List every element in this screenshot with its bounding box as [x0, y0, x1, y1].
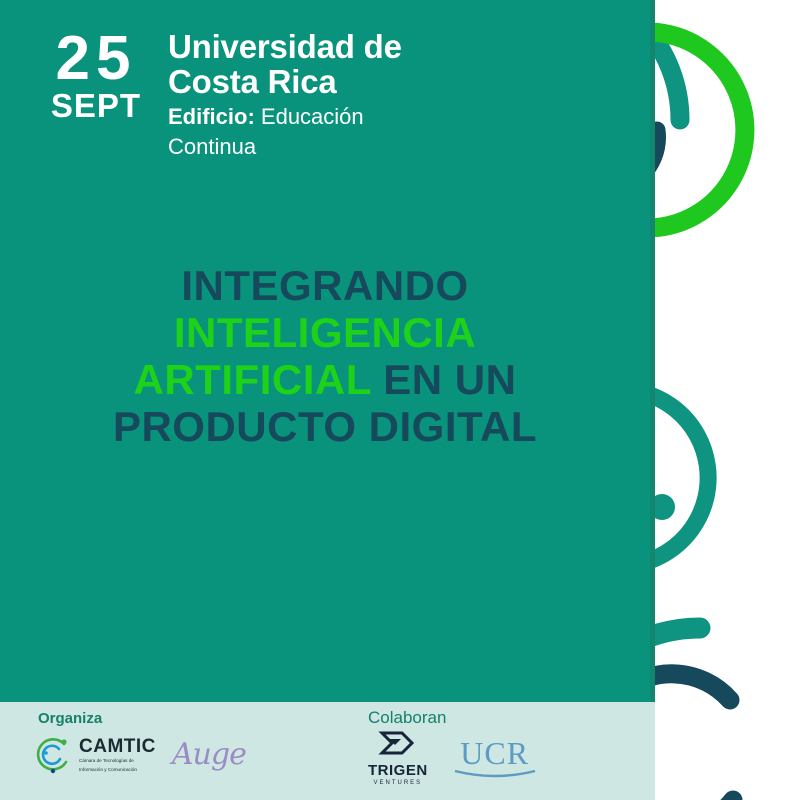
organizer-logos: CAMTIC Cámara de Tecnologías de Informac… [34, 735, 246, 775]
deco-cluster-middle [655, 335, 708, 566]
venue-line: Edificio: Educación [168, 105, 402, 130]
event-header: 25 SEPT Universidad de Costa Rica Edific… [34, 30, 634, 159]
poster-canvas: 25 SEPT Universidad de Costa Rica Edific… [0, 0, 800, 800]
event-date: 25 SEPT [34, 30, 158, 122]
collaborator-logos: TRIGEN VENTURES UCR [368, 730, 536, 786]
ucr-logo[interactable]: UCR [454, 738, 536, 786]
deco-cluster-top [655, 0, 745, 228]
date-day: 25 [34, 30, 158, 87]
camtic-logo[interactable]: CAMTIC Cámara de Tecnologías de Informac… [34, 735, 156, 775]
ucr-name: UCR [454, 738, 536, 768]
camtic-subtitle-line1: Cámara de Tecnologías de [79, 758, 156, 764]
colaboran-label: Colaboran [368, 708, 446, 728]
deco-cluster-bottom [655, 628, 733, 800]
organiza-label: Organiza [38, 710, 102, 727]
title-line-3-dark: EN UN [383, 356, 516, 403]
camtic-name: CAMTIC [79, 737, 156, 756]
camtic-text-block: CAMTIC Cámara de Tecnologías de Informac… [79, 737, 156, 772]
venue-block: Universidad de Costa Rica Edificio: Educ… [158, 30, 402, 159]
trigen-logo[interactable]: TRIGEN VENTURES [368, 730, 428, 786]
date-month: SEPT [34, 89, 158, 122]
camtic-subtitle-line2: Información y Comunicación [79, 767, 156, 773]
auge-logo[interactable]: Auge [172, 740, 246, 770]
title-line-4: PRODUCTO DIGITAL [45, 403, 605, 450]
university-name-line2: Costa Rica [168, 65, 402, 100]
venue-line2: Continua [168, 135, 402, 160]
title-line-2: INTELIGENCIA [45, 309, 605, 356]
event-title: INTEGRANDO INTELIGENCIA ARTIFICIAL EN UN… [45, 262, 605, 450]
sponsors-footer: Organiza Colaboran CAMTIC Cámara de Tecn… [0, 702, 655, 800]
trigen-chevron-icon [376, 730, 420, 756]
panel-edge-stripe [650, 0, 655, 702]
title-line-3-green: ARTIFICIAL [134, 356, 372, 403]
trigen-subtitle: VENTURES [368, 780, 428, 786]
colaboran-group: Colaboran [368, 708, 446, 728]
trigen-name: TRIGEN [368, 763, 428, 778]
ucr-swoosh-icon [454, 769, 536, 781]
organiza-group: Organiza [38, 710, 102, 727]
decorative-circles-column [655, 0, 800, 800]
camtic-mark-icon [34, 735, 74, 775]
venue-value: Educación [261, 104, 364, 129]
venue-label: Edificio: [168, 104, 255, 129]
title-line-1: INTEGRANDO [45, 262, 605, 309]
university-name-line1: Universidad de [168, 30, 402, 65]
decorative-arcs-svg [655, 0, 800, 800]
title-line-3: ARTIFICIAL EN UN [45, 356, 605, 403]
